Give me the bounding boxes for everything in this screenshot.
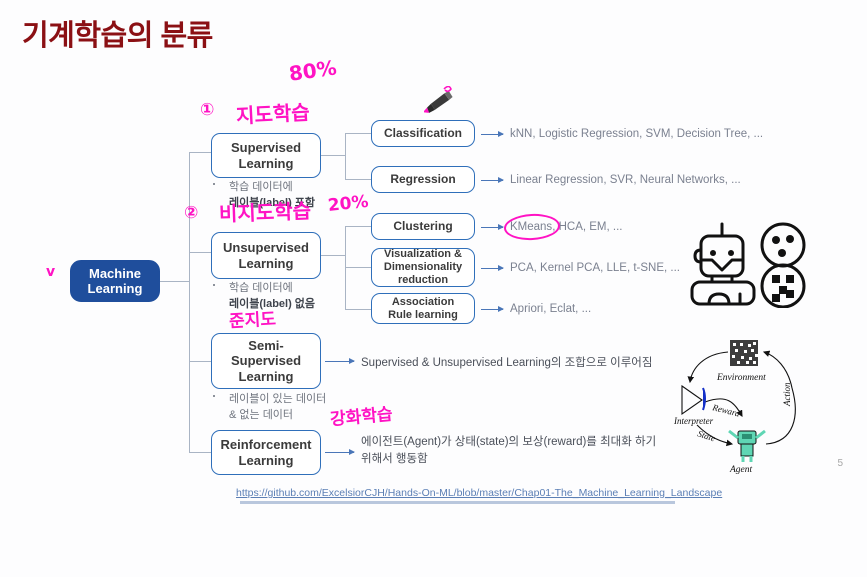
source-link[interactable]: https://github.com/ExcelsiorCJH/Hands-On… [236, 487, 722, 499]
annotation-ganghwa-hakseup: 강화학습 [329, 400, 394, 430]
description-reinforcement: 에이전트(Agent)가 상태(state)의 보상(reward)를 최대화 … [361, 434, 656, 467]
bullet-dot [213, 183, 215, 185]
node-label-line2: Supervised [231, 353, 301, 368]
annotation-percent-20: 20% [327, 192, 370, 216]
connector-to-reinforcement [189, 452, 211, 453]
connector-to-semi [189, 361, 211, 362]
bullet-semi-supervised: 레이블이 있는 데이터 & 없는 데이터 [213, 392, 326, 423]
connector-to-regression [345, 179, 371, 180]
bullet-line1: 학습 데이터에 [229, 180, 315, 196]
bullet-line1: 학습 데이터에 [229, 281, 315, 297]
node-regression[interactable]: Regression [371, 166, 475, 193]
rl-label-action: Action [782, 382, 792, 407]
node-clustering[interactable]: Clustering [371, 213, 475, 240]
rl-label-state: State [696, 428, 716, 443]
slide-canvas: 기계학습의 분류 Machine Learning Supervised Lea… [0, 0, 867, 577]
cluster-icon-squares [762, 265, 804, 307]
agent-node [729, 431, 765, 462]
robot-eye-right [728, 250, 734, 256]
kmeans-ink-circle [503, 213, 560, 242]
node-label-line3: Learning [239, 369, 294, 384]
node-label-line1: Machine [89, 266, 141, 281]
node-label-line1: Association [392, 296, 454, 309]
node-unsupervised-learning[interactable]: Unsupervised Learning [211, 232, 321, 279]
arrow-reinforcement-desc [325, 452, 354, 453]
pen-cursor-icon [424, 86, 454, 120]
node-label-line2: Learning [88, 281, 143, 296]
node-label-line2: Learning [239, 453, 294, 468]
rl-label-agent: Agent [729, 465, 753, 475]
node-label-line1: Visualization & [384, 248, 462, 261]
arrow-classification [481, 134, 503, 135]
arrow-association [481, 309, 503, 310]
connector-supervised-out [320, 155, 345, 156]
arrow-semi-supervised-desc [325, 361, 354, 362]
connector-to-classification [345, 133, 371, 134]
algorithms-clustering-rest: , HCA, EM, ... [552, 221, 622, 233]
bullet-dot [213, 284, 215, 286]
node-association-rule-learning[interactable]: Association Rule learning [371, 293, 475, 324]
robot-eye-left [710, 250, 716, 256]
algorithms-regression: Linear Regression, SVR, Neural Networks,… [510, 174, 741, 186]
page-title: 기계학습의 분류 [22, 12, 213, 54]
annotation-circled-two: ② [184, 203, 198, 223]
robot-clustering-illustration [682, 222, 810, 308]
annotation-circled-one: ① [200, 100, 214, 120]
connector-unsupervised-out [320, 255, 345, 256]
node-label-line1: Supervised [231, 140, 301, 155]
node-label-line1: Unsupervised [223, 240, 309, 255]
footer-divider-bar [240, 501, 675, 504]
connector-root-spine [189, 152, 190, 452]
node-label-line2: Dimensionality [384, 261, 462, 274]
arrow-regression [481, 180, 503, 181]
node-semi-supervised-learning[interactable]: Semi- Supervised Learning [211, 333, 321, 389]
connector-to-visualization [345, 267, 371, 268]
annotation-junjido: 준지도 [228, 305, 276, 332]
bullet-line1: 레이블이 있는 데이터 [229, 392, 326, 408]
algorithms-visualization: PCA, Kernel PCA, LLE, t-SNE, ... [510, 262, 680, 274]
interpreter-node [682, 386, 705, 414]
node-visualization-dimensionality-reduction[interactable]: Visualization & Dimensionality reduction [371, 248, 475, 287]
cluster-icon-dots [762, 224, 804, 266]
environment-node [730, 340, 758, 366]
connector-to-unsupervised [189, 252, 211, 253]
node-label: Classification [384, 126, 462, 140]
node-label-line1: Reinforcement [220, 437, 311, 452]
algorithms-association: Apriori, Eclat, ... [510, 303, 591, 315]
connector-to-supervised [189, 152, 211, 153]
description-reinforcement-line2: 위해서 행동함 [361, 451, 656, 468]
algorithms-classification: kNN, Logistic Regression, SVM, Decision … [510, 128, 763, 140]
annotation-jido-hakseup: 지도학습 [235, 96, 310, 129]
arrow-visualization [481, 268, 503, 269]
connector-supervised-spine [345, 133, 346, 179]
node-label-line2: Rule learning [388, 309, 458, 322]
connector-to-association [345, 309, 371, 310]
annotation-check-mark: v [46, 264, 55, 280]
node-label-line1: Semi- [248, 338, 283, 353]
connector-root-out [159, 281, 190, 282]
node-label-line3: reduction [398, 274, 448, 287]
node-reinforcement-learning[interactable]: Reinforcement Learning [211, 430, 321, 475]
description-semi-supervised: Supervised & Unsupervised Learning의 조합으로… [361, 355, 652, 372]
page-number: 5 [837, 458, 843, 469]
description-reinforcement-line1: 에이전트(Agent)가 상태(state)의 보상(reward)를 최대화 … [361, 434, 656, 451]
bullet-line2: & 없는 데이터 [229, 408, 326, 424]
arrow-clustering [481, 227, 503, 228]
connector-to-clustering [345, 226, 371, 227]
node-classification[interactable]: Classification [371, 120, 475, 147]
node-label: Clustering [393, 219, 452, 233]
node-label-line2: Learning [239, 156, 294, 171]
bullet-dot [213, 395, 215, 397]
rl-label-environment: Environment [716, 373, 766, 383]
node-label: Regression [390, 172, 455, 186]
reinforcement-learning-loop-diagram: Environment Interpreter Reward State Act… [672, 330, 830, 475]
rl-label-reward: Reward [711, 402, 742, 419]
rl-label-interpreter: Interpreter [673, 416, 714, 426]
annotation-bijido-hakseup: 비지도학습 [218, 195, 311, 227]
node-machine-learning[interactable]: Machine Learning [70, 260, 160, 302]
annotation-percent-80: 80% [287, 55, 338, 85]
node-supervised-learning[interactable]: Supervised Learning [211, 133, 321, 178]
node-label-line2: Learning [239, 256, 294, 271]
